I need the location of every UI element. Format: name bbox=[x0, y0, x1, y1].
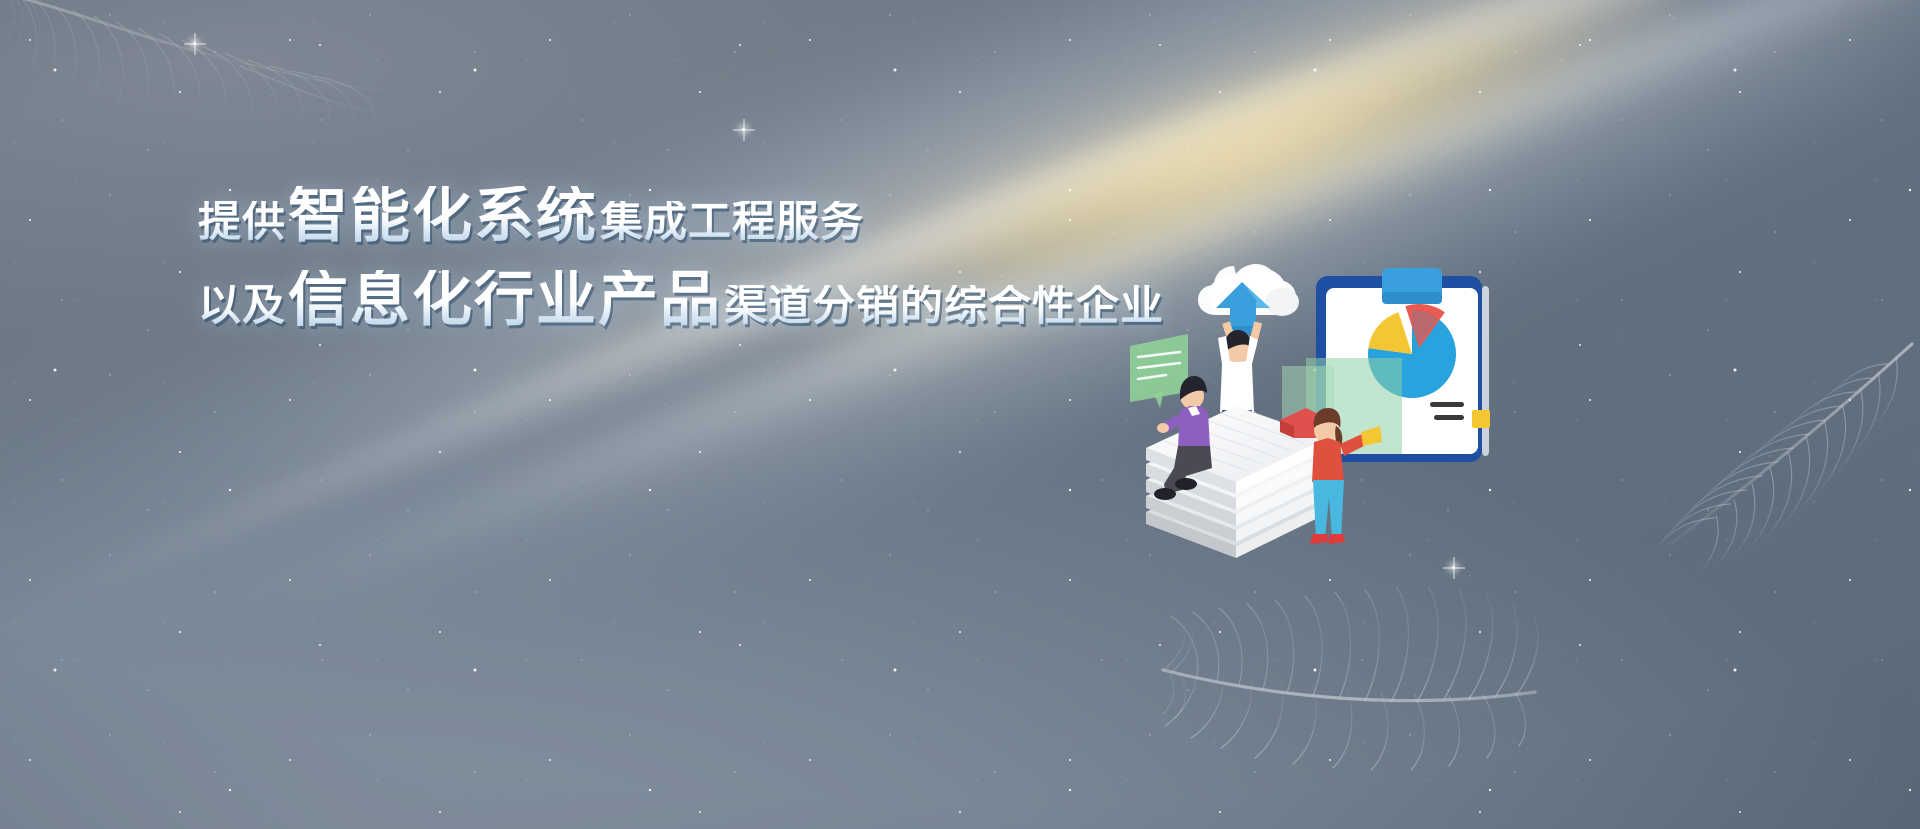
banner-stage: 提供智能化系统集成工程服务 以及信息化行业产品渠道分销的综合性企业 bbox=[0, 0, 1920, 829]
background-vignette bbox=[0, 0, 1920, 829]
